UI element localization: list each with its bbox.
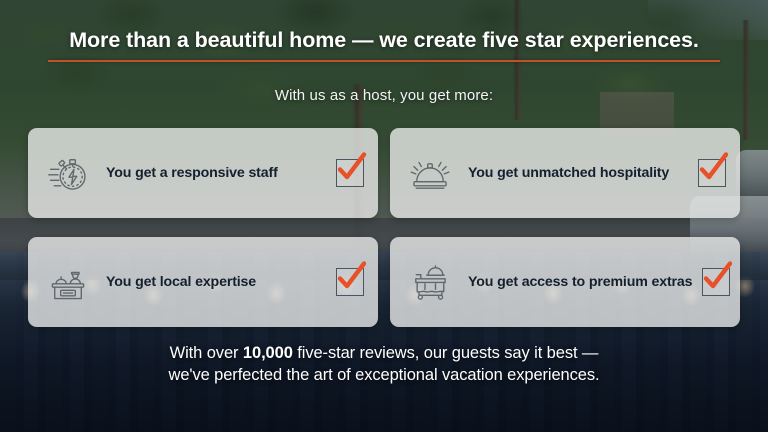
headline-underline-rule <box>48 60 720 62</box>
check-icon <box>696 152 730 186</box>
checkbox-unmatched-hospitality[interactable] <box>698 159 726 187</box>
stopwatch-bolt-icon <box>44 149 92 197</box>
footer-review-count: 10,000 <box>243 344 293 362</box>
benefit-label: You get unmatched hospitality <box>454 165 698 181</box>
slide-content: More than a beautiful home — we create f… <box>0 0 768 432</box>
page-title: More than a beautiful home — we create f… <box>67 28 701 60</box>
service-bell-icon <box>406 149 454 197</box>
subheading: With us as a host, you get more: <box>0 87 768 104</box>
benefit-label: You get access to premium extras <box>454 274 702 290</box>
benefits-grid: You get a responsive staff <box>28 128 740 327</box>
benefit-card-premium-extras[interactable]: You get access to premium extras <box>390 237 740 327</box>
benefit-label: You get a responsive staff <box>92 165 336 181</box>
benefit-card-local-expertise[interactable]: You get local expertise <box>28 237 378 327</box>
headline-container: More than a beautiful home — we create f… <box>0 28 768 60</box>
footer-line1-before: With over <box>170 344 243 362</box>
concierge-desk-icon <box>44 258 92 306</box>
footer-testimonial-text: With over 10,000 five-star reviews, our … <box>0 342 768 387</box>
benefit-card-unmatched-hospitality[interactable]: You get unmatched hospitality <box>390 128 740 218</box>
footer-line1-after: five-star reviews, our guests say it bes… <box>293 344 599 362</box>
footer-line-1: With over 10,000 five-star reviews, our … <box>0 342 768 364</box>
benefit-card-responsive-staff[interactable]: You get a responsive staff <box>28 128 378 218</box>
checkbox-local-expertise[interactable] <box>336 268 364 296</box>
slide-canvas: More than a beautiful home — we create f… <box>0 0 768 432</box>
check-icon <box>334 152 368 186</box>
check-icon <box>334 261 368 295</box>
check-icon <box>700 261 734 295</box>
checkbox-responsive-staff[interactable] <box>336 159 364 187</box>
room-service-cart-icon <box>406 258 454 306</box>
footer-line-2: we've perfected the art of exceptional v… <box>0 364 768 386</box>
benefit-label: You get local expertise <box>92 274 336 290</box>
checkbox-premium-extras[interactable] <box>702 268 730 296</box>
